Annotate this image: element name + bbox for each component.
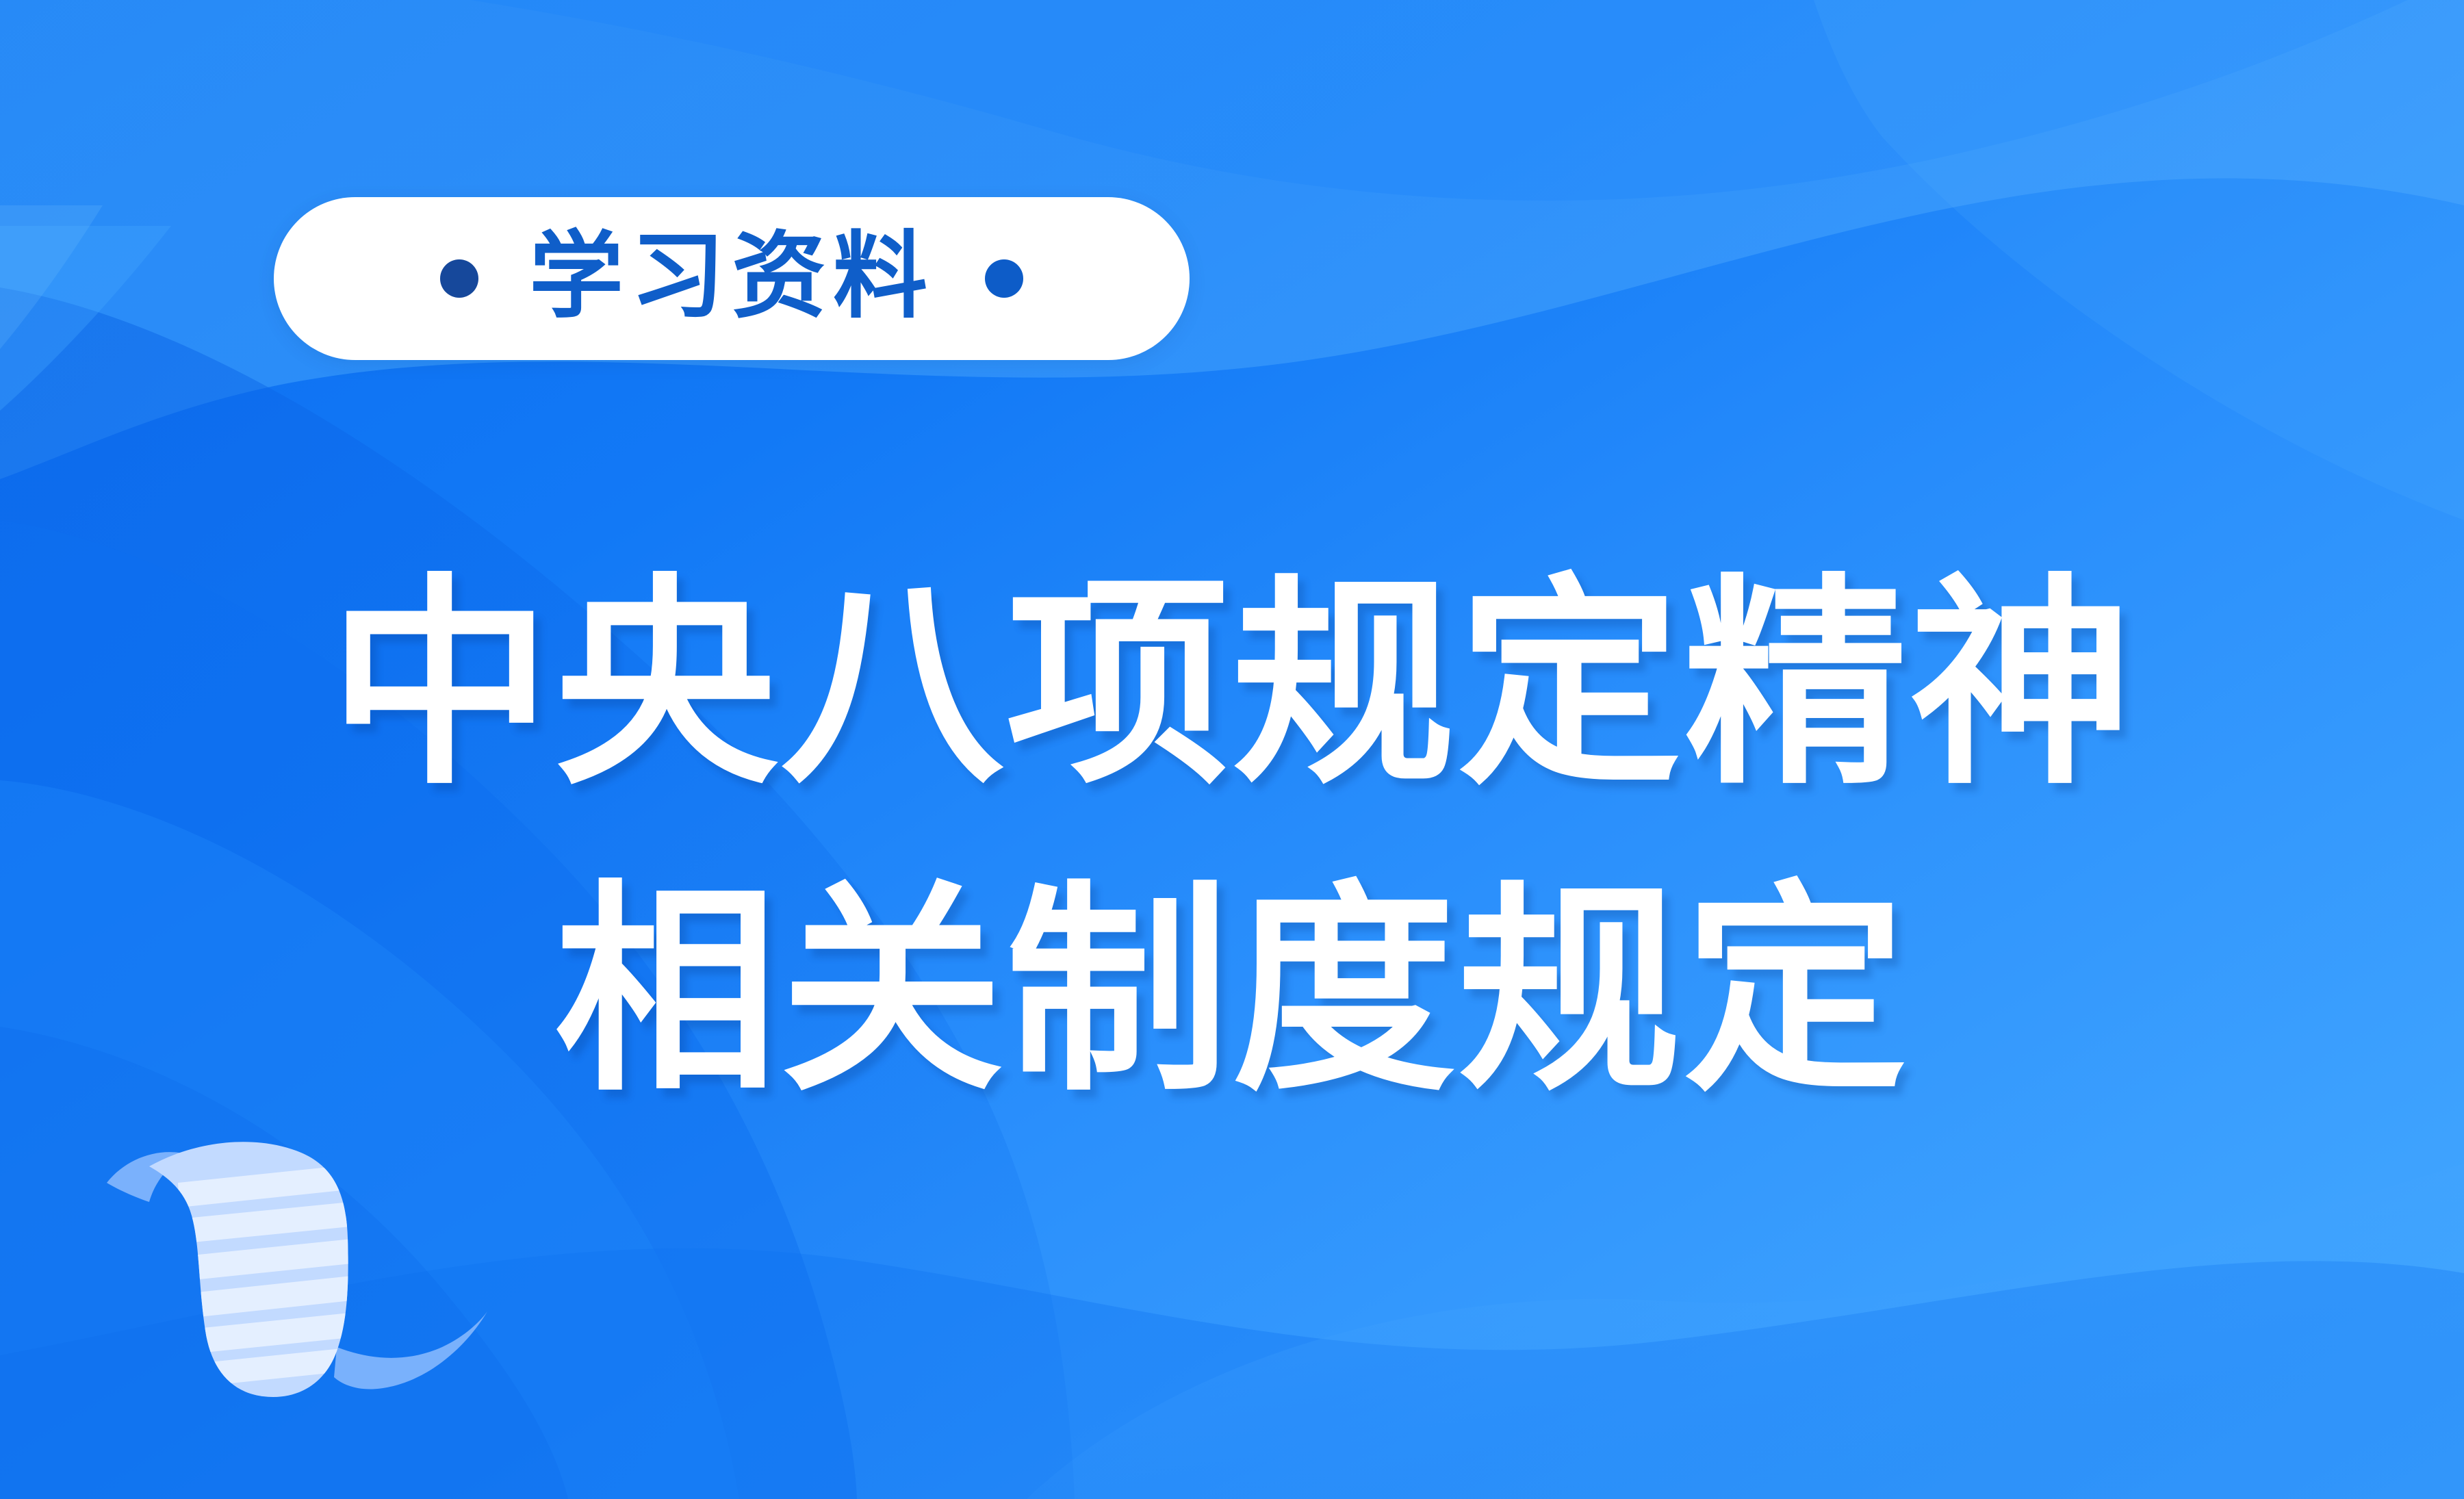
bullet-dot-left-icon (440, 259, 478, 298)
paper-lines (178, 1165, 352, 1385)
scroll-paper-icon (96, 1142, 493, 1415)
title-line-1: 中央八项规定精神 (0, 541, 2464, 831)
badge-pill[interactable]: 学习资料 (274, 197, 1190, 360)
bullet-dot-right-icon (985, 259, 1023, 298)
title-line-2: 相关制度规定 (0, 847, 2464, 1138)
poster-canvas: 学习资料 中央八项规定精神 相关制度规定 (0, 0, 2464, 1499)
badge-label: 学习资料 (529, 229, 934, 328)
page-title: 中央八项规定精神 相关制度规定 (0, 541, 2464, 1138)
